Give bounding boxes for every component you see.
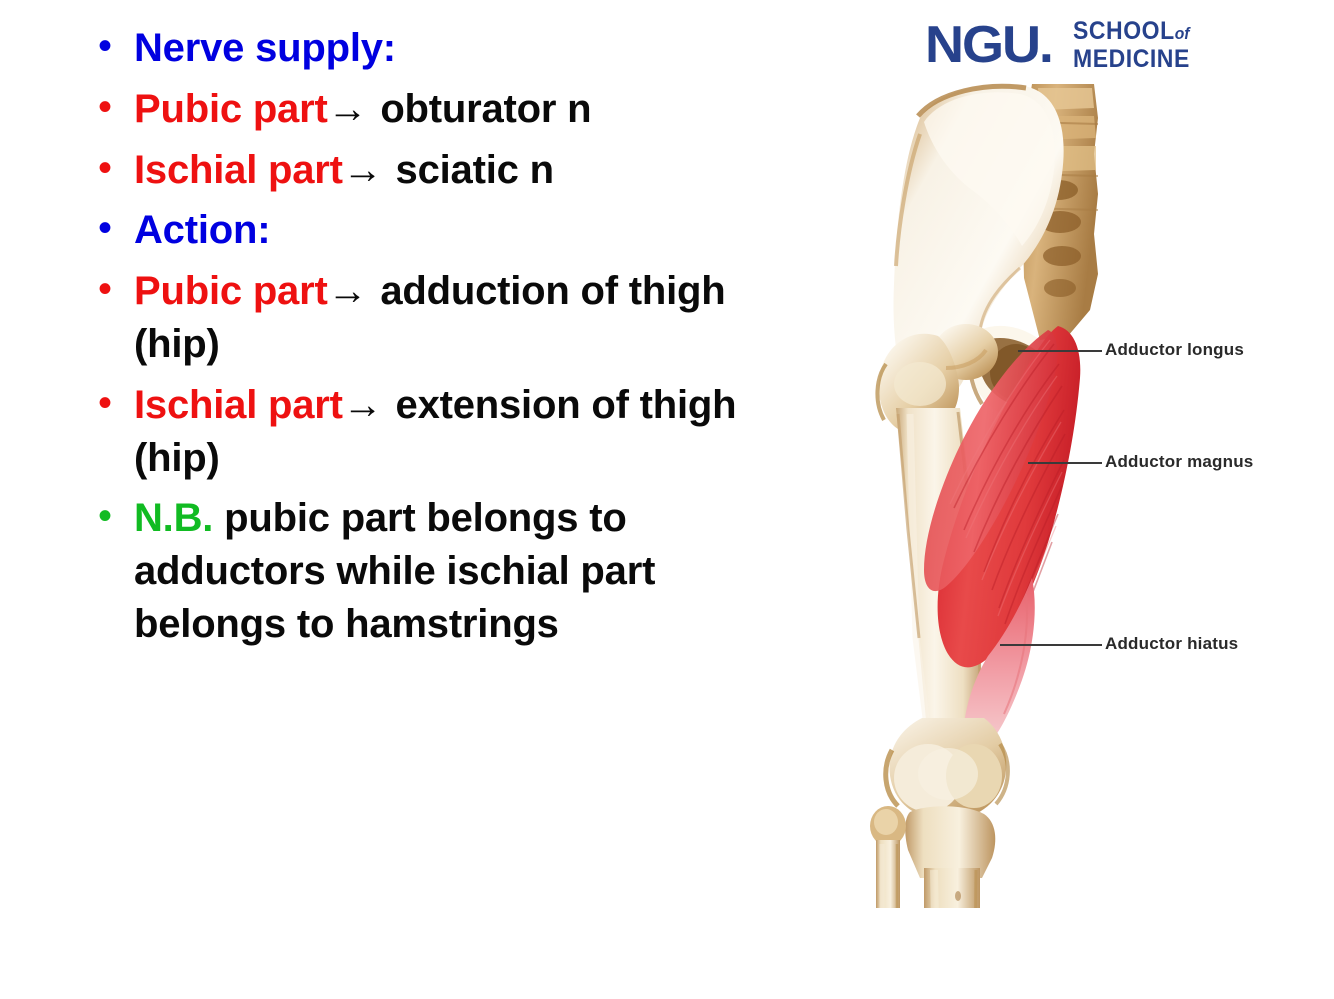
bullet-marker-icon: • (92, 204, 134, 252)
bullet-segment: Ischial part (134, 383, 343, 427)
arrow-right-icon: → (328, 87, 370, 131)
leader-line-adductor-longus (1018, 350, 1102, 352)
label-adductor-magnus: Adductor magnus (1105, 452, 1253, 472)
bullet-segment: Action: (134, 208, 270, 252)
bullet-marker-icon: • (92, 22, 134, 70)
leader-line-adductor-magnus (1028, 462, 1102, 464)
leader-line-adductor-hiatus (1000, 644, 1102, 646)
logo-of-text: of (1175, 24, 1190, 43)
bullet-segment: Pubic part (134, 269, 328, 313)
bullet-text: Pubic part→ adduction of thigh (hip) (134, 265, 792, 371)
bullet-segment: sciatic n (385, 148, 554, 192)
anatomy-illustration (862, 78, 1334, 908)
arrow-right-icon: → (343, 148, 385, 192)
bullet-marker-icon: • (92, 265, 134, 313)
arrow-right-icon: → (328, 269, 370, 313)
label-adductor-longus: Adductor longus (1105, 340, 1244, 360)
list-item: • Nerve supply: (92, 22, 792, 75)
bullet-text: Ischial part→ extension of thigh (hip) (134, 379, 792, 485)
bullet-segment: Nerve supply: (134, 26, 396, 70)
slide-canvas: • Nerve supply: • Pubic part→ obturator … (0, 0, 1334, 999)
ngu-school-of-medicine-logo: NGU. SCHOOLof MEDICINE (925, 10, 1315, 80)
bullet-segment: obturator n (369, 87, 591, 131)
bullet-text: N.B. pubic part belongs to adductors whi… (134, 492, 792, 650)
list-item: • Ischial part→ sciatic n (92, 144, 792, 197)
bullet-text: Action: (134, 204, 792, 257)
list-item: • Pubic part→ adduction of thigh (hip) (92, 265, 792, 371)
bullet-segment: Pubic part (134, 87, 328, 131)
logo-wordmark: NGU. (925, 18, 1052, 72)
bullet-marker-icon: • (92, 83, 134, 131)
list-item: • N.B. pubic part belongs to adductors w… (92, 492, 792, 650)
logo-school-text: SCHOOL (1073, 17, 1175, 45)
bullet-marker-icon: • (92, 379, 134, 427)
logo-line-school: SCHOOLof (1073, 19, 1190, 44)
list-item: • Pubic part→ obturator n (92, 83, 792, 136)
bullet-list: • Nerve supply: • Pubic part→ obturator … (92, 22, 792, 659)
list-item: • Action: (92, 204, 792, 257)
bullet-segment: Ischial part (134, 148, 343, 192)
bullet-text: Ischial part→ sciatic n (134, 144, 792, 197)
bullet-segment: N.B. (134, 496, 213, 540)
tibia-and-fibula (870, 806, 995, 908)
list-item: • Ischial part→ extension of thigh (hip) (92, 379, 792, 485)
anatomy-svg (862, 78, 1334, 908)
logo-line-medicine: MEDICINE (1073, 47, 1190, 72)
logo-subtitle: SCHOOLof MEDICINE (1073, 19, 1200, 72)
bullet-segment: pubic part belongs to adductors while is… (134, 496, 655, 646)
arrow-right-icon: → (343, 383, 385, 427)
bullet-marker-icon: • (92, 144, 134, 192)
bullet-marker-icon: • (92, 492, 134, 540)
bullet-text: Nerve supply: (134, 22, 792, 75)
knee-joint-femoral-condyles (886, 718, 1008, 820)
label-adductor-hiatus: Adductor hiatus (1105, 634, 1238, 654)
bullet-text: Pubic part→ obturator n (134, 83, 792, 136)
